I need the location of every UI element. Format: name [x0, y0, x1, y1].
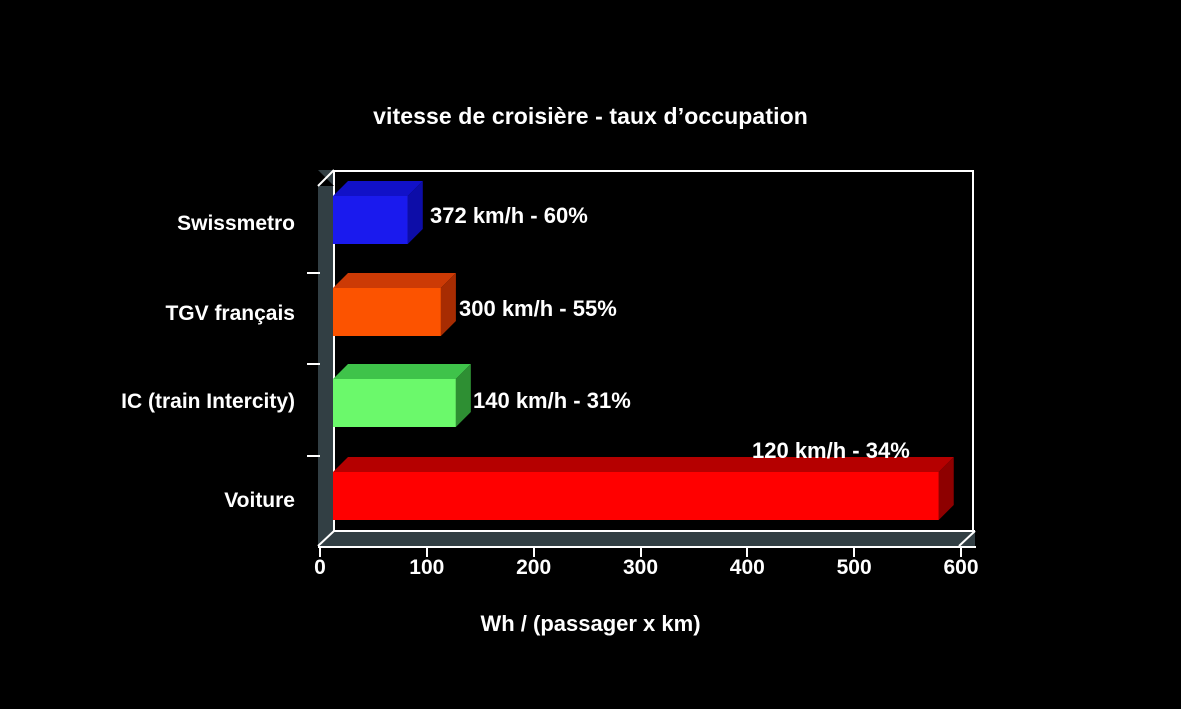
x-axis-title: Wh / (passager x km): [0, 611, 1181, 637]
bar-top-face: [333, 181, 423, 196]
x-axis-tick-label: 500: [819, 556, 889, 580]
x-axis-tick-label: 400: [712, 556, 782, 580]
bar-top-face: [333, 273, 456, 288]
plot-floor-right-diagonal: [958, 528, 978, 548]
chart-title: vitesse de croisière - taux d’occupation: [0, 103, 1181, 130]
x-axis-tick-label: 600: [926, 556, 996, 580]
bar-front-face: [333, 288, 441, 336]
bar-2: [333, 273, 460, 340]
x-axis-line: [318, 546, 976, 548]
bar-front-face: [333, 472, 939, 520]
y-axis-category-label-4: Voiture: [0, 489, 300, 513]
plot-left-wall-3d: [318, 170, 333, 544]
bar-value-label-1: 372 km/h - 60%: [430, 203, 588, 229]
x-axis-tick-label: 300: [606, 556, 676, 580]
bar-4: [333, 457, 958, 524]
bar-top-face: [333, 364, 471, 379]
category-label-text: Voiture: [0, 489, 300, 513]
bar-3: [333, 364, 475, 431]
category-label-text: IC (train Intercity): [0, 390, 300, 414]
y-axis-category-tick: [307, 455, 320, 457]
category-label-text: Swissmetro: [0, 212, 300, 236]
bar-1: [333, 181, 427, 248]
plot-floor-left-diagonal: [316, 528, 336, 548]
category-label-text: TGV français: [0, 302, 300, 326]
plot-floor-3d: [318, 531, 975, 546]
y-axis-category-tick: [307, 363, 320, 365]
x-axis-tick-label: 200: [499, 556, 569, 580]
bar-value-label-4: 120 km/h - 34%: [752, 438, 910, 464]
y-axis-category-tick: [307, 272, 320, 274]
x-axis-tick-label: 100: [392, 556, 462, 580]
bar-front-face: [333, 379, 456, 427]
bar-value-label-2: 300 km/h - 55%: [459, 296, 617, 322]
y-axis-category-label-3: IC (train Intercity): [0, 390, 300, 414]
x-axis-tick-label: 0: [285, 556, 355, 580]
bar-front-face: [333, 196, 408, 244]
y-axis-category-label-1: Swissmetro: [0, 212, 300, 236]
bar-value-label-3: 140 km/h - 31%: [473, 388, 631, 414]
chart-root: vitesse de croisière - taux d’occupation…: [0, 0, 1181, 709]
plot-floor-top-edge: [333, 530, 975, 532]
y-axis-category-label-2: TGV français: [0, 302, 300, 326]
